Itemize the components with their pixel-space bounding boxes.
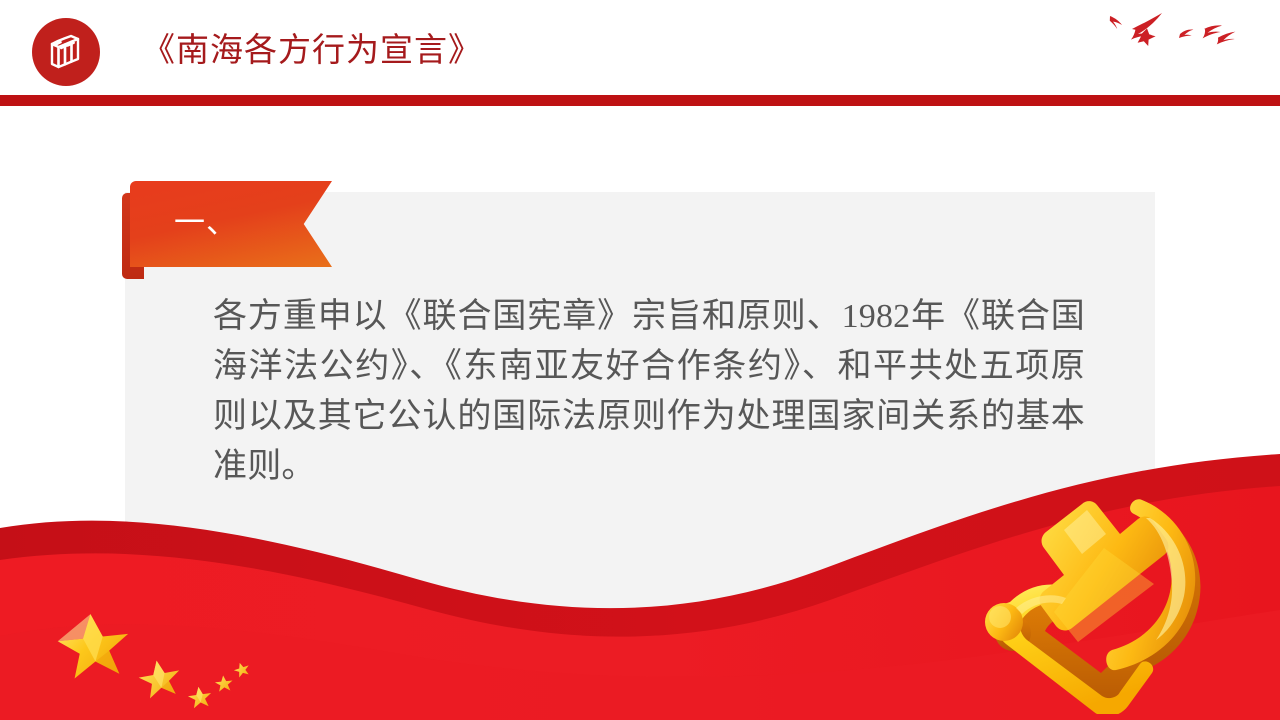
five-gold-stars-icon (48, 606, 278, 716)
page-title: 《南海各方行为宣言》 (142, 23, 482, 79)
body-paragraph: 各方重申以《联合国宪章》宗旨和原则、1982年《联合国海洋法公约》、《东南亚友好… (213, 292, 1085, 492)
flying-birds-icon (1092, 4, 1272, 64)
header-divider (0, 95, 1280, 106)
slide-canvas: 《南海各方行为宣言》 一、 各方重申以《联合国宪章》宗旨和原则、1982年《联合… (0, 0, 1280, 720)
books-icon (32, 18, 100, 86)
section-ribbon: 一、 (122, 181, 332, 281)
slide-header: 《南海各方行为宣言》 (0, 0, 1280, 105)
section-number-label: 一、 (174, 199, 294, 247)
hammer-and-sickle-emblem-icon (954, 474, 1254, 714)
